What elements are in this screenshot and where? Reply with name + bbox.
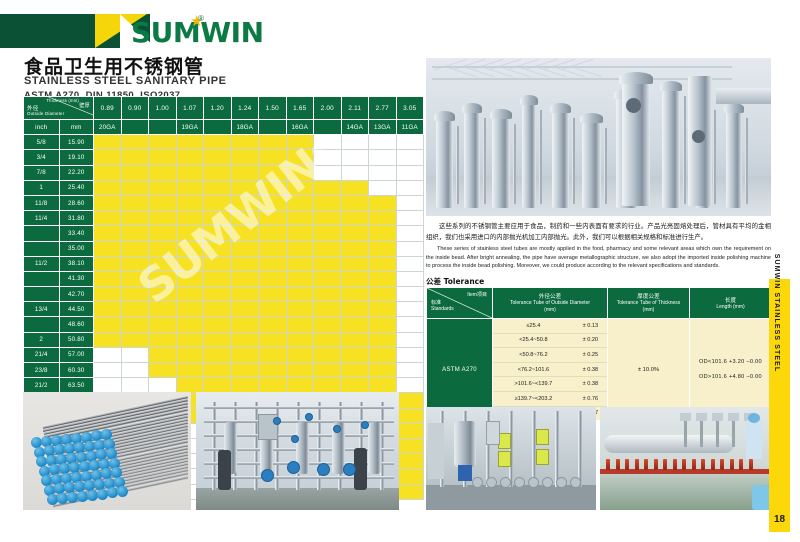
size-cell-r0-c11	[396, 135, 424, 150]
size-cell-r12-c9	[341, 317, 369, 332]
blue-valve-handwheel	[288, 462, 299, 473]
process-skid-photo	[426, 407, 596, 510]
size-cell-r16-c2	[149, 378, 177, 393]
evaporator-column	[522, 104, 536, 208]
size-cell-r8-c9	[341, 256, 369, 271]
yellow-indicator	[536, 429, 549, 445]
size-cell-r3-c11	[396, 180, 424, 195]
connector-pipe	[572, 118, 575, 204]
size-cell-r11-c10	[369, 302, 397, 317]
thickness-header-5: 1.24	[231, 97, 259, 120]
size-cell-r13-c1	[121, 332, 149, 347]
gauge-header-11: 11GA	[396, 120, 424, 135]
bottle	[644, 459, 648, 470]
row-inch: 7/8	[24, 165, 60, 180]
gauge-header-4	[204, 120, 232, 135]
large-vessel-dome	[619, 72, 653, 84]
size-cell-r20-c11	[396, 438, 424, 453]
size-cell-r8-c2	[149, 256, 177, 271]
size-cell-r15-c5	[231, 363, 259, 378]
bottling-line-photo	[600, 407, 770, 510]
size-cell-r15-c0	[94, 363, 122, 378]
size-cell-r5-c3	[176, 211, 204, 226]
thickness-header-11: 3.05	[396, 97, 424, 120]
size-cell-r3-c8	[314, 180, 342, 195]
worker-cap	[748, 413, 760, 423]
size-cell-r0-c9	[341, 135, 369, 150]
thickness-header-4: 1.20	[204, 97, 232, 120]
size-cell-r0-c3	[176, 135, 204, 150]
size-cell-r14-c10	[369, 347, 397, 362]
pipe-end-cap	[97, 489, 108, 500]
size-cell-r15-c10	[369, 363, 397, 378]
size-cell-r12-c10	[369, 317, 397, 332]
brand-logo: SUMWIN ★ ®	[0, 14, 250, 48]
size-cell-r3-c10	[369, 180, 397, 195]
evaporator-column	[582, 122, 601, 208]
row-inch: 23/8	[24, 363, 60, 378]
size-cell-r15-c1	[121, 363, 149, 378]
connector-pipe	[456, 126, 459, 204]
bottle	[625, 459, 629, 470]
size-cell-r12-c11	[396, 317, 424, 332]
size-cell-r16-c1	[121, 378, 149, 393]
nozzle-head	[680, 413, 691, 421]
sidebar-label: SUMWIN STAINLESS STEEL	[773, 254, 780, 373]
size-cell-r16-c9	[341, 378, 369, 393]
size-cell-r11-c11	[396, 302, 424, 317]
size-cell-r18-c11	[396, 408, 424, 423]
catalog-page: SUMWIN ★ ® 食品卫生用不锈钢管 STAINLESS STEEL SAN…	[0, 0, 800, 542]
thickness-header-3: 1.07	[176, 97, 204, 120]
size-cell-r9-c0	[94, 271, 122, 286]
table-row: 5/815.90	[24, 135, 424, 150]
gauge-header-6	[259, 120, 287, 135]
gauge-header-10: 13GA	[369, 120, 397, 135]
size-cell-r4-c11	[396, 195, 424, 210]
size-cell-r5-c0	[94, 211, 122, 226]
row-mm: 60.30	[59, 363, 94, 378]
size-cell-r13-c3	[176, 332, 204, 347]
table-row: 21/457.00	[24, 347, 424, 362]
size-cell-r10-c2	[149, 287, 177, 302]
size-cell-r14-c1	[121, 347, 149, 362]
connector-pipe	[604, 128, 607, 204]
tolerance-row: <50.8~76.2± 0.25	[493, 348, 607, 363]
size-cell-r6-c0	[94, 226, 122, 241]
size-cell-r5-c7	[286, 211, 314, 226]
od-range-4: >101.6~<139.7	[493, 377, 574, 392]
size-cell-r4-c9	[341, 195, 369, 210]
size-cell-r6-c10	[369, 226, 397, 241]
table-row: 3/419.10	[24, 150, 424, 165]
size-cell-r4-c6	[259, 195, 287, 210]
size-cell-r5-c6	[259, 211, 287, 226]
size-cell-r5-c5	[231, 211, 259, 226]
size-cell-r0-c0	[94, 135, 122, 150]
size-cell-r6-c5	[231, 226, 259, 241]
evaporator-dome	[520, 95, 538, 105]
row-inch: 3/4	[24, 150, 60, 165]
evaporator-dome	[434, 111, 455, 121]
evaporator-dome	[724, 103, 744, 113]
ceiling-beam	[432, 78, 732, 80]
size-cell-r1-c5	[231, 150, 259, 165]
bottle	[749, 459, 753, 470]
blue-valve	[292, 436, 298, 442]
size-cell-r11-c5	[231, 302, 259, 317]
vertical-pipe	[555, 411, 559, 487]
blue-crate	[752, 485, 770, 510]
size-cell-r13-c9	[341, 332, 369, 347]
nozzle-head	[712, 413, 723, 421]
od-range-0: ≤25.4	[493, 319, 574, 333]
evaporator-dome	[580, 113, 603, 123]
size-cell-r2-c0	[94, 165, 122, 180]
size-cell-r6-c3	[176, 226, 204, 241]
size-cell-r2-c10	[369, 165, 397, 180]
size-cell-r11-c9	[341, 302, 369, 317]
thickness-header-1: 0.90	[121, 97, 149, 120]
pipe-end-cap	[77, 491, 88, 502]
od-tolerance-3: ± 0.38	[574, 362, 607, 377]
size-cell-r16-c0	[94, 378, 122, 393]
size-cell-r6-c8	[314, 226, 342, 241]
size-cell-r0-c5	[231, 135, 259, 150]
size-cell-r8-c11	[396, 256, 424, 271]
size-cell-r13-c5	[231, 332, 259, 347]
tolerance-corner-cell: Item项目 标准 Standards	[427, 288, 493, 319]
size-cell-r9-c2	[149, 271, 177, 286]
size-cell-r3-c7	[286, 180, 314, 195]
tolerance-thickness-value: ± 10.0%	[608, 319, 690, 421]
size-cell-r3-c2	[149, 180, 177, 195]
row-inch	[24, 317, 60, 332]
row-mm: 41.30	[59, 271, 94, 286]
ceiling-beam	[432, 66, 732, 68]
pipe-end-cap	[47, 494, 58, 505]
size-cell-r8-c6	[259, 256, 287, 271]
pump-motor	[218, 450, 231, 490]
row-mm: 50.80	[59, 332, 94, 347]
size-cell-r9-c5	[231, 271, 259, 286]
row-inch	[24, 241, 60, 256]
size-cell-r9-c1	[121, 271, 149, 286]
size-cell-r12-c6	[259, 317, 287, 332]
size-cell-r4-c7	[286, 195, 314, 210]
size-cell-r12-c2	[149, 317, 177, 332]
row-inch	[24, 271, 60, 286]
size-cell-r0-c8	[314, 135, 342, 150]
size-cell-r9-c9	[341, 271, 369, 286]
size-cell-r12-c5	[231, 317, 259, 332]
size-cell-r2-c6	[259, 165, 287, 180]
size-cell-r13-c0	[94, 332, 122, 347]
size-cell-r11-c0	[94, 302, 122, 317]
size-cell-r5-c11	[396, 211, 424, 226]
table-row: 13/444.50	[24, 302, 424, 317]
table-row: 250.80	[24, 332, 424, 347]
length-line-1: OD<101.6 +3.20 –0.00	[690, 355, 771, 370]
size-cell-r5-c10	[369, 211, 397, 226]
flange	[570, 477, 581, 488]
size-cell-r1-c4	[204, 150, 232, 165]
size-cell-r14-c5	[231, 347, 259, 362]
size-cell-r5-c9	[341, 211, 369, 226]
thickness-header-0: 0.89	[94, 97, 122, 120]
size-cell-r0-c1	[121, 135, 149, 150]
table-row: 42.70	[24, 287, 424, 302]
size-cell-r8-c5	[231, 256, 259, 271]
size-cell-r12-c4	[204, 317, 232, 332]
blue-valve	[334, 426, 340, 432]
evaporator-column	[464, 112, 480, 208]
size-cell-r13-c7	[286, 332, 314, 347]
size-cell-r11-c6	[259, 302, 287, 317]
size-cell-r11-c8	[314, 302, 342, 317]
size-cell-r14-c6	[259, 347, 287, 362]
row-inch: 13/4	[24, 302, 60, 317]
size-cell-r5-c8	[314, 211, 342, 226]
size-cell-r3-c9	[341, 180, 369, 195]
size-cell-r7-c0	[94, 241, 122, 256]
page-title-en: STAINLESS STEEL SANITARY PIPE	[24, 75, 227, 87]
size-cell-r15-c9	[341, 363, 369, 378]
size-cell-r15-c3	[176, 363, 204, 378]
size-cell-r12-c7	[286, 317, 314, 332]
size-cell-r11-c3	[176, 302, 204, 317]
size-cell-r9-c10	[369, 271, 397, 286]
gauge-header-2	[149, 120, 177, 135]
size-cell-r10-c0	[94, 287, 122, 302]
size-cell-r11-c2	[149, 302, 177, 317]
size-cell-r11-c1	[121, 302, 149, 317]
bottle	[711, 459, 715, 470]
row-mm: 22.20	[59, 165, 94, 180]
blue-valve	[362, 422, 368, 428]
process-tank	[368, 422, 381, 474]
row-mm: 44.50	[59, 302, 94, 317]
row-inch: 21/4	[24, 347, 60, 362]
size-cell-r9-c4	[204, 271, 232, 286]
size-cell-r16-c7	[286, 378, 314, 393]
size-cell-r10-c8	[314, 287, 342, 302]
length-line-2: OD>101.6 +4.80 –0.00	[690, 370, 771, 385]
size-cell-r9-c6	[259, 271, 287, 286]
evaporator-dome	[490, 109, 512, 119]
size-cell-r14-c0	[94, 347, 122, 362]
size-cell-r15-c2	[149, 363, 177, 378]
tolerance-standard-name: ASTM A270	[427, 319, 493, 421]
evaporator-column	[662, 90, 680, 208]
row-mm: 48.60	[59, 317, 94, 332]
size-cell-r3-c4	[204, 180, 232, 195]
table-row: 41.30	[24, 271, 424, 286]
size-cell-r1-c0	[94, 150, 122, 165]
size-cell-r1-c3	[176, 150, 204, 165]
flange	[500, 477, 511, 488]
pipe-end-cap	[67, 492, 78, 503]
size-cell-r8-c0	[94, 256, 122, 271]
gauge-header-5: 18GA	[231, 120, 259, 135]
size-cell-r7-c5	[231, 241, 259, 256]
size-cell-r1-c11	[396, 150, 424, 165]
size-cell-r23-c11	[396, 484, 424, 499]
horizontal-pipe	[204, 406, 394, 409]
yellow-indicator	[536, 449, 549, 465]
od-range-2: <50.8~76.2	[493, 348, 574, 363]
size-cell-r16-c6	[259, 378, 287, 393]
size-cell-r8-c7	[286, 256, 314, 271]
registered-mark: ®	[198, 14, 204, 23]
tolerance-col-length: 长度 Length (mm)	[690, 288, 772, 319]
gauge-header-7: 16GA	[286, 120, 314, 135]
size-cell-r13-c4	[204, 332, 232, 347]
size-cell-r7-c8	[314, 241, 342, 256]
size-cell-r9-c3	[176, 271, 204, 286]
size-cell-r2-c1	[121, 165, 149, 180]
size-cell-r9-c8	[314, 271, 342, 286]
bottle	[739, 459, 743, 470]
thickness-header-6: 1.50	[259, 97, 287, 120]
flange	[472, 477, 483, 488]
size-cell-r11-c4	[204, 302, 232, 317]
connector-pipe	[683, 96, 686, 204]
bottle	[663, 459, 667, 470]
size-cell-r13-c11	[396, 332, 424, 347]
size-cell-r8-c4	[204, 256, 232, 271]
size-cell-r14-c7	[286, 347, 314, 362]
row-mm: 33.40	[59, 226, 94, 241]
size-cell-r12-c8	[314, 317, 342, 332]
size-cell-r15-c7	[286, 363, 314, 378]
flange	[486, 477, 497, 488]
size-cell-r1-c8	[314, 150, 342, 165]
size-cell-r13-c8	[314, 332, 342, 347]
size-cell-r14-c4	[204, 347, 232, 362]
filling-nozzle	[732, 417, 735, 447]
row-inch: 5/8	[24, 135, 60, 150]
page-number: 18	[769, 514, 790, 525]
size-cell-r1-c10	[369, 150, 397, 165]
yellow-indicator	[498, 451, 511, 467]
blue-valve-handwheel	[318, 464, 329, 475]
size-cell-r2-c9	[341, 165, 369, 180]
size-cell-r3-c1	[121, 180, 149, 195]
pipe-end-cap	[117, 486, 128, 497]
size-cell-r7-c4	[204, 241, 232, 256]
size-cell-r4-c2	[149, 195, 177, 210]
bottle	[692, 459, 696, 470]
table-row: 11/828.60	[24, 195, 424, 210]
size-cell-r16-c3	[176, 378, 204, 393]
row-inch: 11/8	[24, 195, 60, 210]
gauge-header-8	[314, 120, 342, 135]
table-row: 23/860.30	[24, 363, 424, 378]
size-cell-r2-c3	[176, 165, 204, 180]
bottle	[616, 459, 620, 470]
evaporator-dome	[550, 103, 571, 113]
filler-tube	[604, 435, 734, 453]
page-sidebar: SUMWIN STAINLESS STEEL 18	[769, 279, 790, 532]
row-inch: 21/2	[24, 378, 60, 393]
size-cell-r8-c8	[314, 256, 342, 271]
unit-header-inch: inch	[24, 120, 60, 135]
size-cell-r5-c2	[149, 211, 177, 226]
manhole-port	[626, 98, 641, 113]
size-cell-r16-c8	[314, 378, 342, 393]
size-cell-r2-c4	[204, 165, 232, 180]
size-cell-r10-c7	[286, 287, 314, 302]
pipe-end-cap	[87, 490, 98, 501]
tolerance-col-thickness: 厚度公差 Tolerance Tube of Thickness (mm)	[608, 288, 690, 319]
size-cell-r14-c9	[341, 347, 369, 362]
size-cell-r6-c11	[396, 226, 424, 241]
size-cell-r0-c6	[259, 135, 287, 150]
tolerance-heading: 公差 Tolerance	[426, 276, 484, 287]
tolerance-row: >101.6~<139.7± 0.38	[493, 377, 607, 392]
nozzle-head	[728, 413, 739, 421]
blue-valve-handwheel	[262, 470, 273, 481]
size-cell-r9-c11	[396, 271, 424, 286]
filling-nozzle	[684, 417, 687, 447]
size-cell-r4-c10	[369, 195, 397, 210]
size-cell-r14-c2	[149, 347, 177, 362]
size-cell-r17-c11	[396, 393, 424, 408]
vertical-pipe	[578, 411, 582, 487]
size-cell-r7-c3	[176, 241, 204, 256]
tolerance-od-list: ≤25.4± 0.13<25.4~50.8± 0.20<50.8~76.2± 0…	[493, 319, 608, 421]
size-cell-r7-c6	[259, 241, 287, 256]
size-cell-r0-c4	[204, 135, 232, 150]
size-cell-r13-c2	[149, 332, 177, 347]
blue-valve-handwheel	[344, 464, 355, 475]
table-row: 48.60	[24, 317, 424, 332]
table-corner-cell: Thickness (mm)壁厚外径Outside Diameter	[24, 97, 94, 120]
size-cell-r12-c0	[94, 317, 122, 332]
thickness-header-7: 1.65	[286, 97, 314, 120]
tolerance-item-label: Item项目	[467, 291, 487, 298]
size-cell-r7-c7	[286, 241, 314, 256]
tolerance-std-en: Standards	[431, 306, 454, 312]
size-cell-r6-c9	[341, 226, 369, 241]
size-cell-r7-c11	[396, 241, 424, 256]
connector-pipe	[539, 110, 542, 204]
tolerance-row: <76.2~101.6± 0.38	[493, 362, 607, 377]
gauge-header-0: 20GA	[94, 120, 122, 135]
thickness-header-2: 1.00	[149, 97, 177, 120]
manhole-port	[692, 130, 705, 143]
thickness-header-9: 2.11	[341, 97, 369, 120]
row-mm: 19.10	[59, 150, 94, 165]
evaporator-dome	[462, 103, 482, 113]
od-tolerance-5: ± 0.76	[574, 391, 607, 406]
connector-pipe	[513, 124, 516, 204]
od-tolerance-2: ± 0.25	[574, 348, 607, 363]
size-cell-r2-c5	[231, 165, 259, 180]
size-cell-r6-c1	[121, 226, 149, 241]
size-cell-r4-c5	[231, 195, 259, 210]
pipes-photo	[23, 392, 191, 510]
size-cell-r10-c1	[121, 287, 149, 302]
size-cell-r1-c1	[121, 150, 149, 165]
size-cell-r6-c7	[286, 226, 314, 241]
flange	[542, 477, 553, 488]
size-cell-r1-c9	[341, 150, 369, 165]
size-cell-r4-c3	[176, 195, 204, 210]
size-cell-r0-c10	[369, 135, 397, 150]
row-mm: 15.90	[59, 135, 94, 150]
